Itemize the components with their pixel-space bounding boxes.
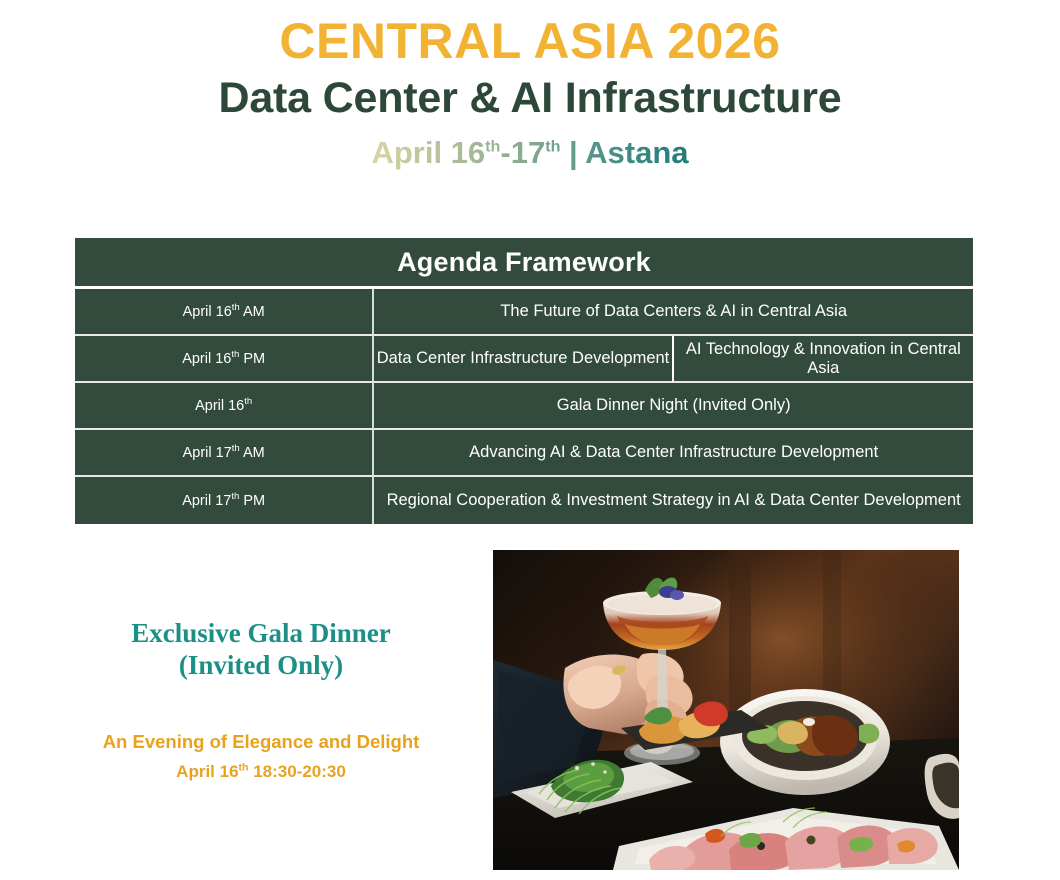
gala-time-range: 18:30-20:30 (248, 762, 345, 781)
agenda-row-0-topic: The Future of Data Centers & AI in Centr… (374, 289, 973, 336)
page-title: CENTRAL ASIA 2026 (0, 14, 1060, 68)
agenda-row-4-date: April 17 (182, 493, 231, 509)
agenda-row-0-ordinal: th (232, 302, 240, 313)
agenda-row-1-time: April 16th PM (75, 336, 374, 383)
agenda-row-3-date: April 17 (183, 445, 232, 461)
table-row: April 16th PM Data Center Infrastructure… (75, 336, 973, 383)
dateline-month-day: April 16 (371, 135, 485, 170)
agenda-row-4-topic: Regional Cooperation & Investment Strate… (374, 477, 973, 524)
agenda-row-4-time: April 17th PM (75, 477, 374, 524)
agenda-row-3-topic: Advancing AI & Data Center Infrastructur… (374, 430, 973, 477)
table-row: April 17th PM Regional Cooperation & Inv… (75, 477, 973, 524)
agenda-row-0-period: AM (240, 304, 265, 320)
dateline-city: Astana (585, 135, 688, 170)
gala-tagline: An Evening of Elegance and Delight (56, 730, 466, 755)
dateline-end-day: -17 (500, 135, 545, 170)
agenda-row-3-period: AM (240, 445, 265, 461)
agenda-row-1-date: April 16 (182, 351, 231, 367)
dateline-ordinal-2: th (545, 138, 560, 156)
gala-heading-line-2: (Invited Only) (56, 650, 466, 682)
gala-dinner-heading: Exclusive Gala Dinner (Invited Only) (56, 618, 466, 682)
agenda-row-1-period: PM (239, 351, 265, 367)
dateline-separator: | (560, 135, 585, 170)
gala-time-date: April 16 (176, 762, 238, 781)
agenda-row-2-topic: Gala Dinner Night (Invited Only) (374, 383, 973, 430)
gala-time: April 16th 18:30-20:30 (56, 761, 466, 783)
agenda-row-2-ordinal: th (244, 396, 252, 407)
agenda-row-1-topic-left: Data Center Infrastructure Development (374, 336, 673, 383)
agenda-header-row: Agenda Framework (75, 238, 973, 289)
agenda-table: Agenda Framework April 16th AM The Futur… (75, 238, 973, 524)
agenda-framework-panel: Agenda Framework April 16th AM The Futur… (75, 238, 973, 524)
table-row: April 16th Gala Dinner Night (Invited On… (75, 383, 973, 430)
table-row: April 17th AM Advancing AI & Data Center… (75, 430, 973, 477)
gala-heading-line-1: Exclusive Gala Dinner (56, 618, 466, 650)
gala-dinner-photo-illustration (493, 550, 959, 870)
gala-time-ordinal: th (239, 761, 249, 773)
event-subtitle: Data Center & AI Infrastructure (0, 72, 1060, 124)
agenda-row-0-time: April 16th AM (75, 289, 374, 336)
agenda-row-0-date: April 16 (183, 304, 232, 320)
gala-dinner-photo (493, 550, 959, 870)
dateline-ordinal-1: th (485, 138, 500, 156)
agenda-row-3-ordinal: th (232, 443, 240, 454)
agenda-row-3-time: April 17th AM (75, 430, 374, 477)
event-header: CENTRAL ASIA 2026 Data Center & AI Infra… (0, 0, 1060, 172)
agenda-row-1-topic-right: AI Technology & Innovation in Central As… (674, 336, 973, 383)
agenda-row-2-time: April 16th (75, 383, 374, 430)
table-row: April 16th AM The Future of Data Centers… (75, 289, 973, 336)
event-dateline: April 16th-17th | Astana (371, 134, 688, 171)
agenda-row-2-date: April 16 (195, 398, 244, 414)
gala-dinner-section: Exclusive Gala Dinner (Invited Only) An … (56, 618, 466, 783)
agenda-header-title: Agenda Framework (75, 238, 973, 289)
agenda-row-4-period: PM (239, 493, 265, 509)
